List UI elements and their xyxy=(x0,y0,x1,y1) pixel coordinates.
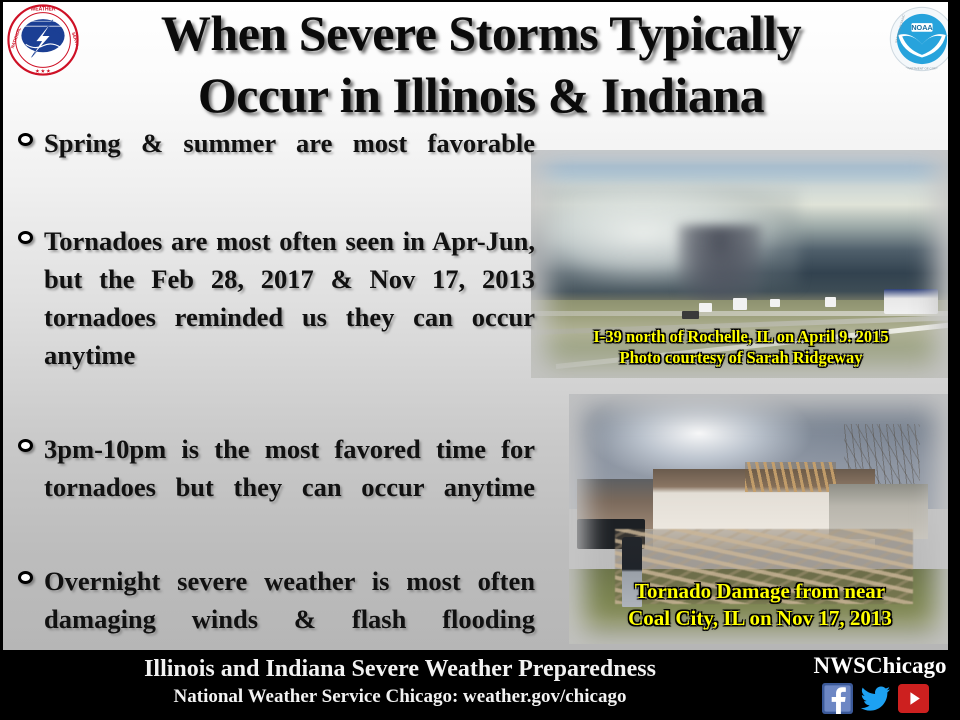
vehicle xyxy=(770,299,780,307)
damage-photo-caption: Tornado Damage from near Coal City, IL o… xyxy=(569,578,948,632)
bullet-text-4: Overnight severe weather is most often d… xyxy=(44,562,535,650)
slide-border-left xyxy=(0,0,3,652)
nws-logo: WEATHER ★ ★ ★ NATIONAL SERVICE xyxy=(7,4,79,76)
caption-line-2: Photo courtesy of Sarah Ridgeway xyxy=(531,347,948,368)
caption-line-1: Tornado Damage from near xyxy=(569,578,948,605)
slide-border-top xyxy=(0,0,960,2)
footer-subtitle: National Weather Service Chicago: weathe… xyxy=(0,684,800,710)
tornado-funnel xyxy=(678,225,762,305)
footer-title: Illinois and Indiana Severe Weather Prep… xyxy=(0,654,800,684)
caption-line-1: I-39 north of Rochelle, IL on April 9. 2… xyxy=(531,326,948,347)
svg-text:U.S. DEPARTMENT OF COMMERCE: U.S. DEPARTMENT OF COMMERCE xyxy=(897,66,948,70)
bullet-text-3: 3pm-10pm is the most favored time for to… xyxy=(44,430,535,544)
vehicle xyxy=(682,311,699,318)
twitter-icon[interactable] xyxy=(860,683,891,714)
svg-text:NOAA: NOAA xyxy=(911,23,933,32)
vehicle xyxy=(825,297,836,307)
noaa-logo: NOAA NATIONAL OCEANIC ATMOSPHERIC ADMIN … xyxy=(889,6,948,72)
youtube-icon[interactable] xyxy=(898,683,929,714)
tornado-photo-caption: I-39 north of Rochelle, IL on April 9. 2… xyxy=(531,326,948,368)
hollow-circle-bullet-icon xyxy=(18,439,33,452)
bullet-item-4: Overnight severe weather is most often d… xyxy=(11,562,535,650)
hollow-circle-bullet-icon xyxy=(18,571,33,584)
bullet-item-3: 3pm-10pm is the most favored time for to… xyxy=(11,430,535,544)
hollow-circle-bullet-icon xyxy=(18,231,33,244)
social-links xyxy=(822,683,929,714)
bullet-item-1: Spring & summer are most favorable xyxy=(11,124,535,200)
title-line-2: Occur in Illinois & Indiana xyxy=(81,64,881,126)
slide-canvas: WEATHER ★ ★ ★ NATIONAL SERVICE When Seve… xyxy=(3,2,948,650)
facebook-icon[interactable] xyxy=(822,683,853,714)
footer-text-block: Illinois and Indiana Severe Weather Prep… xyxy=(0,654,800,710)
title-line-1: When Severe Storms Typically xyxy=(81,2,881,64)
nws-chicago-handle: NWSChicago xyxy=(805,653,955,679)
svg-text:★ ★ ★: ★ ★ ★ xyxy=(35,68,51,73)
page-title: When Severe Storms Typically Occur in Il… xyxy=(81,2,881,126)
tornado-photo: I-39 north of Rochelle, IL on April 9. 2… xyxy=(531,150,948,378)
caption-line-2: Coal City, IL on Nov 17, 2013 xyxy=(569,605,948,632)
svg-text:WEATHER: WEATHER xyxy=(30,6,55,12)
semi-truck xyxy=(884,289,939,314)
tornado-damage-photo: Tornado Damage from near Coal City, IL o… xyxy=(569,394,948,644)
hollow-circle-bullet-icon xyxy=(18,133,33,146)
slide-root: WEATHER ★ ★ ★ NATIONAL SERVICE When Seve… xyxy=(0,0,960,720)
bullet-text-1: Spring & summer are most favorable xyxy=(44,124,535,200)
bullet-item-2: Tornadoes are most often seen in Apr-Jun… xyxy=(11,222,535,412)
footer-bar: Illinois and Indiana Severe Weather Prep… xyxy=(0,650,960,720)
exposed-rafters xyxy=(745,462,837,492)
vehicle xyxy=(733,298,747,309)
bullet-list: Spring & summer are most favorable Torna… xyxy=(11,124,535,650)
bullet-text-2: Tornadoes are most often seen in Apr-Jun… xyxy=(44,222,535,412)
vehicle xyxy=(699,303,712,312)
slide-border-right xyxy=(948,0,960,652)
